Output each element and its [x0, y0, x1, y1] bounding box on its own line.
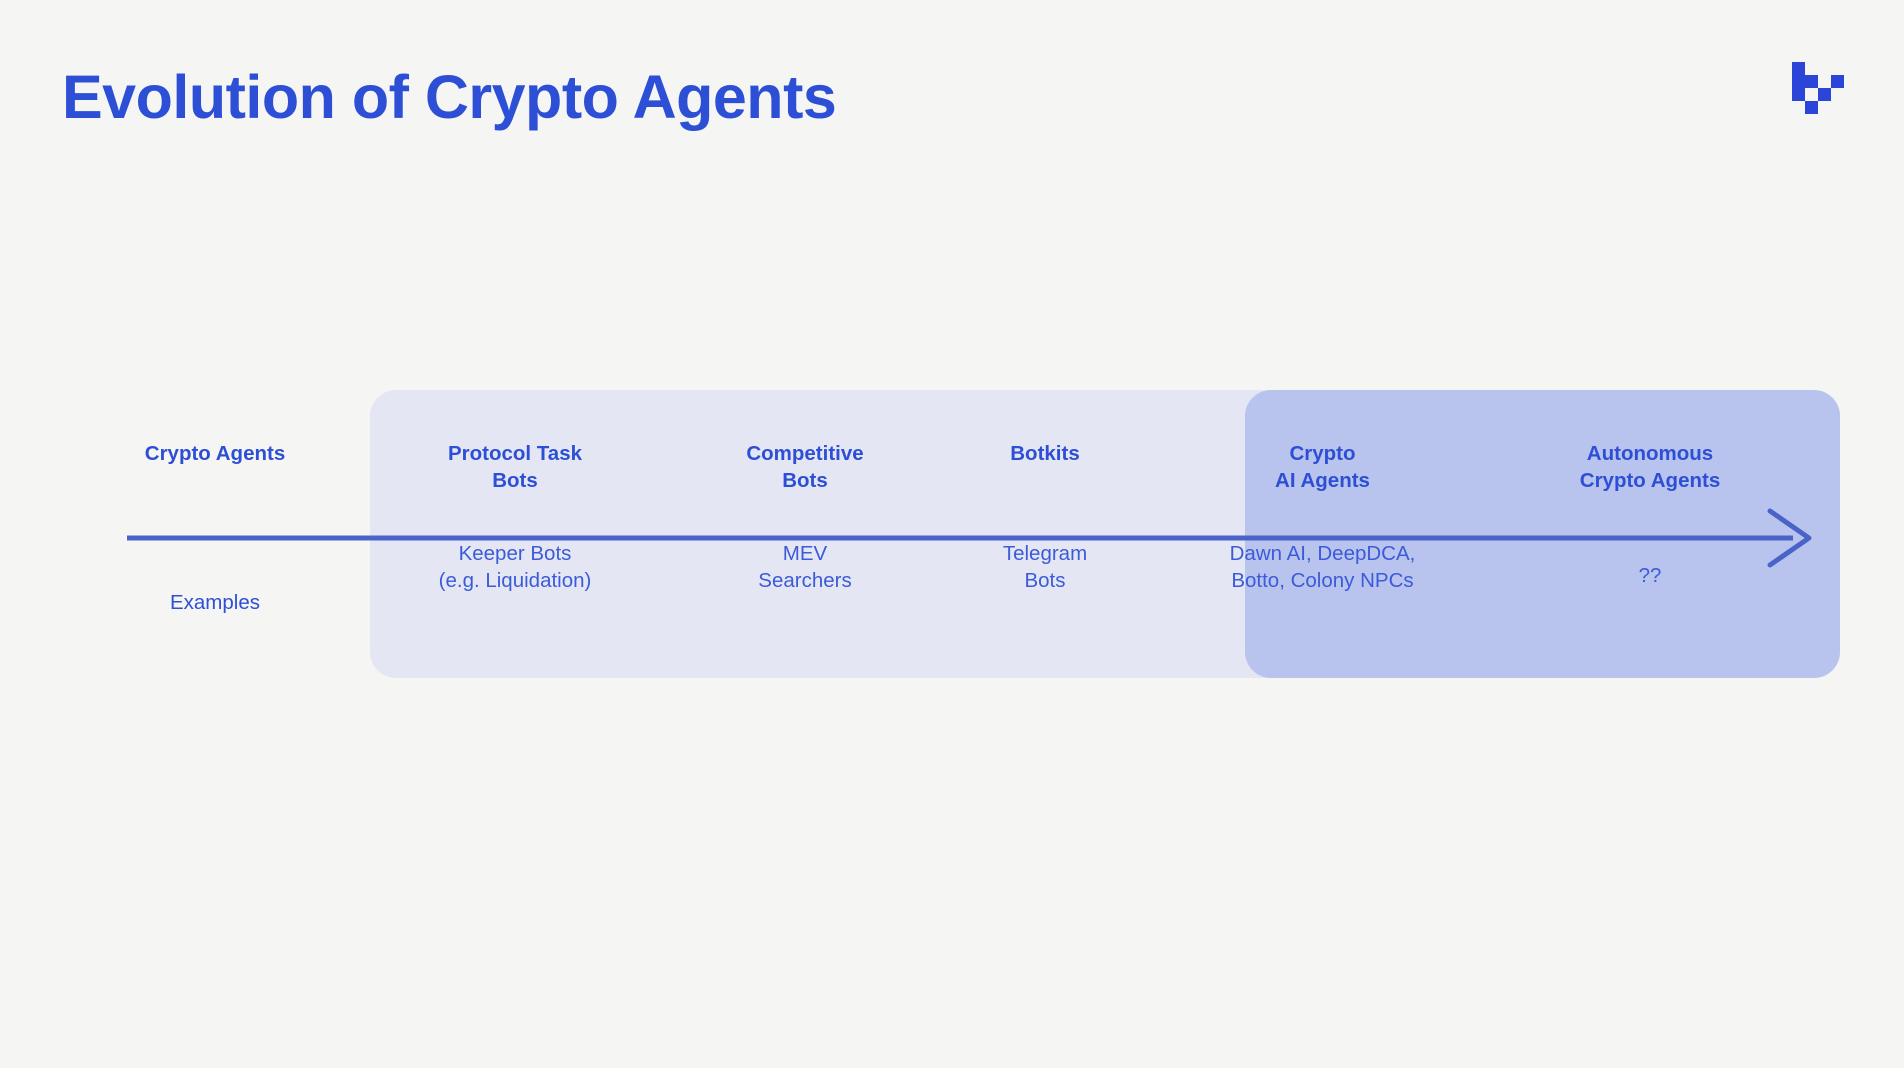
stage-examples-protocol-task-bots: Keeper Bots (e.g. Liquidation) — [439, 540, 592, 594]
column-row-labels: Crypto Agents Examples — [60, 440, 370, 650]
column-competitive-bots: Competitive Bots MEV Searchers — [660, 440, 950, 650]
row-label-categories: Crypto Agents — [145, 440, 285, 467]
row-label-examples: Examples — [170, 591, 260, 614]
stage-name-botkits: Botkits — [1010, 440, 1079, 498]
stage-examples-botkits: Telegram Bots — [1003, 540, 1087, 594]
stage-name-competitive-bots: Competitive Bots — [746, 440, 863, 498]
stage-columns: Crypto Agents Examples Protocol Task Bot… — [0, 440, 1904, 650]
column-crypto-ai-agents: Crypto AI Agents Dawn AI, DeepDCA, Botto… — [1140, 440, 1505, 650]
stage-examples-competitive-bots: MEV Searchers — [758, 540, 851, 594]
stage-name-autonomous-crypto-agents: Autonomous Crypto Agents — [1580, 440, 1720, 498]
stage-name-crypto-ai-agents: Crypto AI Agents — [1275, 440, 1370, 498]
stage-examples-autonomous-crypto-agents: ?? — [1639, 562, 1662, 589]
stage-name-protocol-task-bots: Protocol Task Bots — [448, 440, 582, 498]
column-autonomous-crypto-agents: Autonomous Crypto Agents ?? — [1505, 440, 1795, 650]
evolution-diagram: Crypto Agents Examples Protocol Task Bot… — [0, 0, 1904, 1068]
column-protocol-task-bots: Protocol Task Bots Keeper Bots (e.g. Liq… — [370, 440, 660, 650]
stage-examples-crypto-ai-agents: Dawn AI, DeepDCA, Botto, Colony NPCs — [1230, 540, 1416, 594]
column-botkits: Botkits Telegram Bots — [950, 440, 1140, 650]
